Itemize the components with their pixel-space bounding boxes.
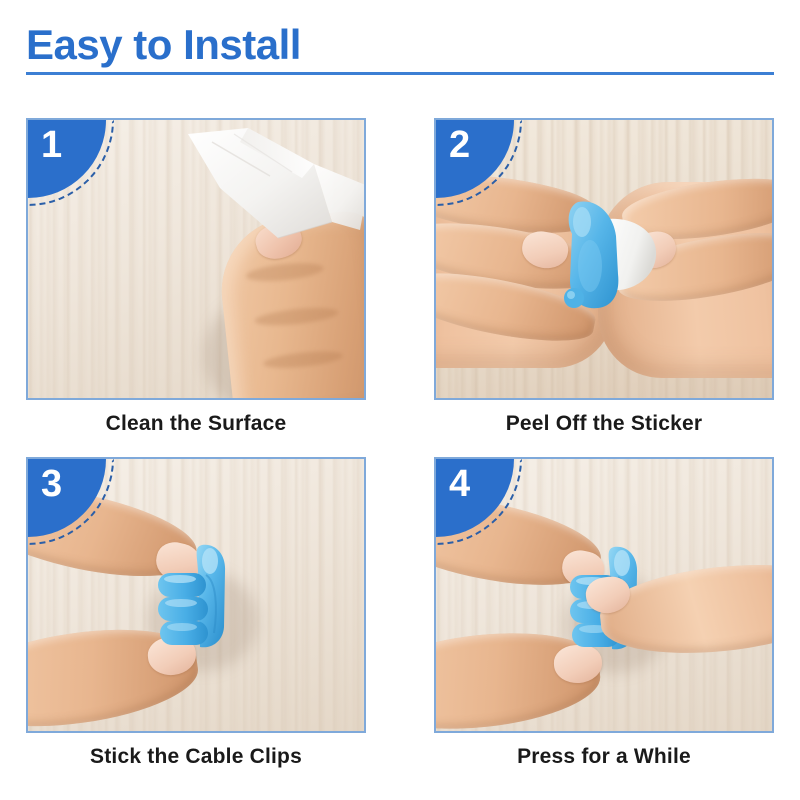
step-caption-2: Peel Off the Sticker: [434, 412, 774, 436]
step-caption-4: Press for a While: [434, 745, 774, 769]
step-card-3: 3 Stick the Cable Clips: [26, 457, 366, 769]
badge-disc-3: [28, 459, 106, 537]
step-card-2: 2 Peel Off the Sticker: [434, 118, 774, 436]
badge-number-3: 3: [41, 465, 62, 503]
step-caption-3: Stick the Cable Clips: [26, 745, 366, 769]
badge-disc-2: [436, 120, 514, 198]
tissue-illustration: [182, 126, 366, 258]
step-photo-4: 4: [434, 457, 774, 733]
badge-disc-1: [28, 120, 106, 198]
badge-number-2: 2: [449, 126, 470, 164]
step-card-4: 4 Press for a While: [434, 457, 774, 769]
badge-number-4: 4: [449, 465, 470, 503]
step-photo-3: 3: [26, 457, 366, 733]
page-header: Easy to Install: [26, 24, 774, 75]
badge-disc-4: [436, 459, 514, 537]
step-badge-4: 4: [436, 459, 514, 537]
step-photo-2: 2: [434, 118, 774, 400]
page-title: Easy to Install: [26, 24, 774, 72]
step-card-1: 1 Clean the Surface: [26, 118, 366, 436]
badge-number-1: 1: [41, 126, 62, 164]
steps-grid: 1 Clean the Surface: [26, 118, 774, 769]
step-badge-2: 2: [436, 120, 514, 198]
step-badge-3: 3: [28, 459, 106, 537]
title-underline-rule: [26, 72, 774, 75]
step-photo-1: 1: [26, 118, 366, 400]
blue-clip-illustration-2: [552, 196, 632, 320]
step-badge-1: 1: [28, 120, 106, 198]
blue-clip-illustration-3: [152, 541, 238, 653]
step-caption-1: Clean the Surface: [26, 412, 366, 436]
